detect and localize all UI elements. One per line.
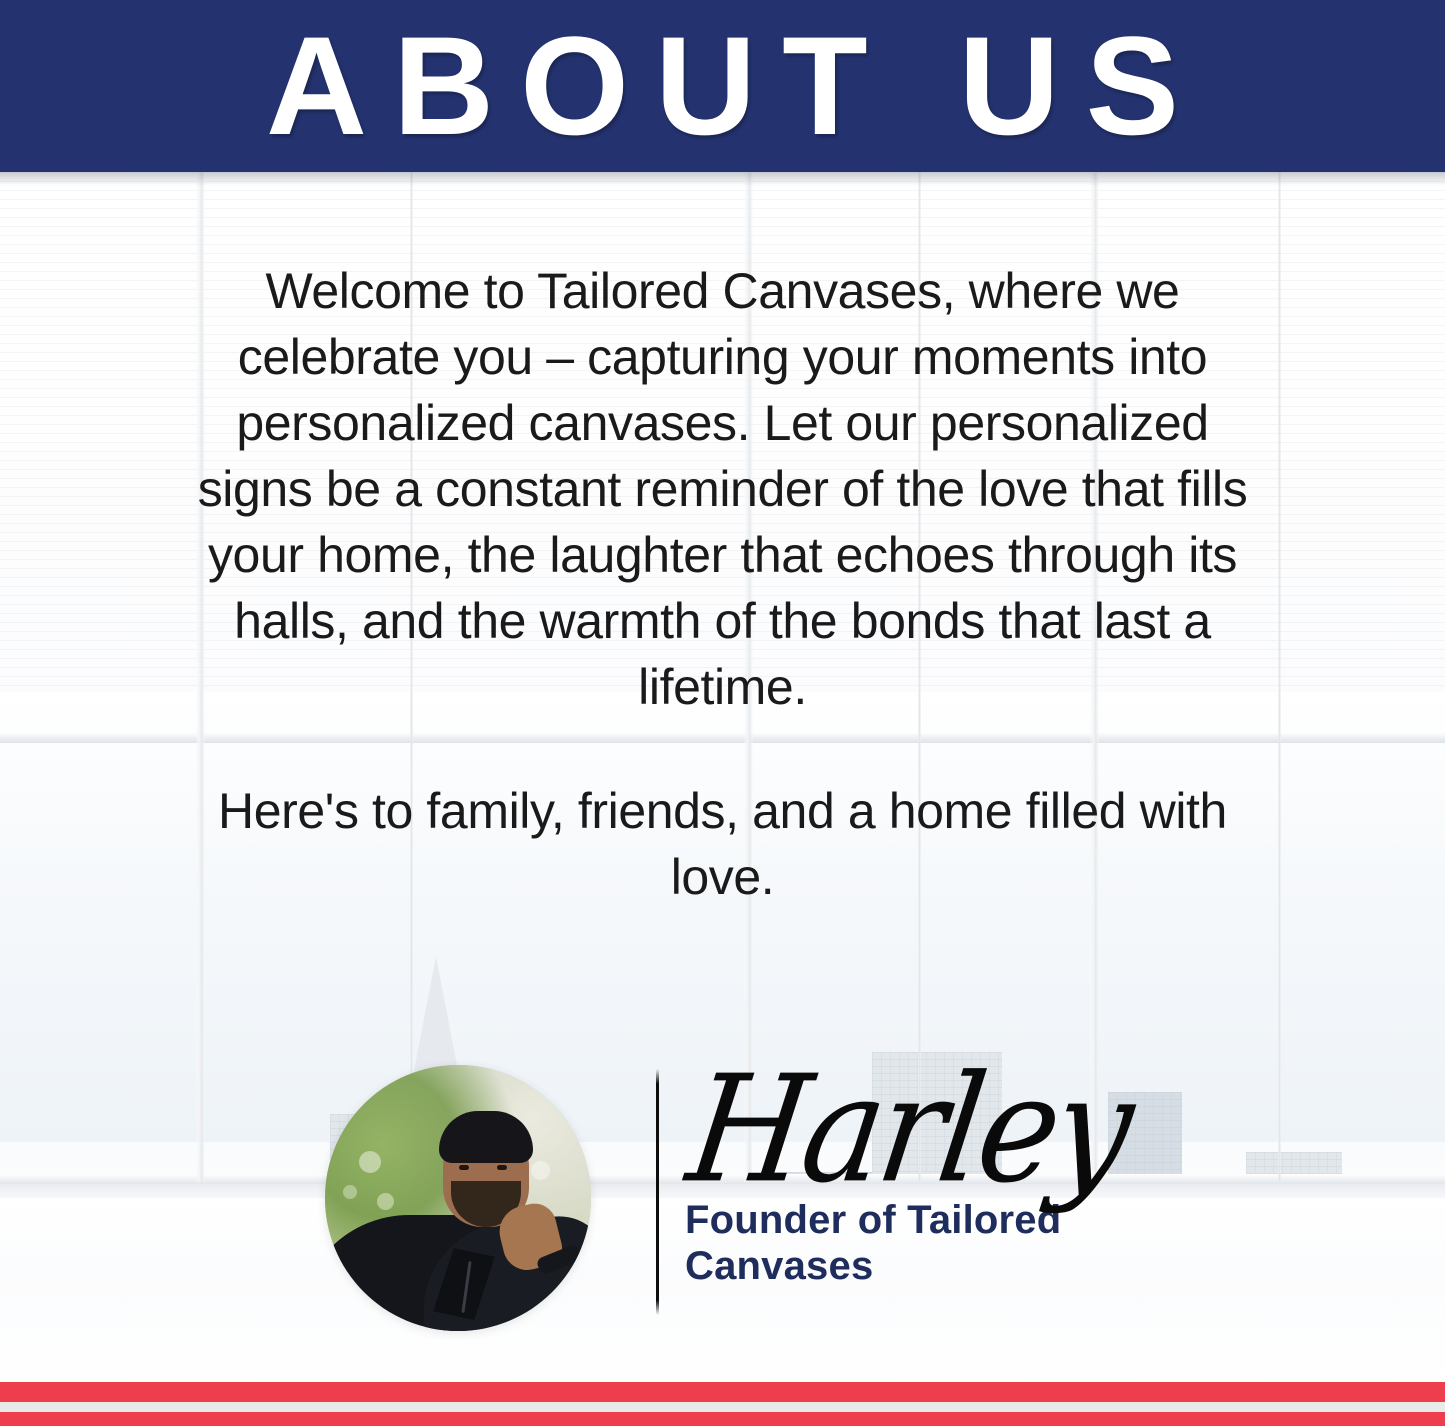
footer-stripe-gap xyxy=(0,1402,1445,1412)
page-title: ABOUT US xyxy=(240,11,1205,161)
about-paragraph-2: Here's to family, friends, and a home fi… xyxy=(193,778,1253,910)
about-us-page: ABOUT US Welcome to Tailored Canvases, w… xyxy=(0,0,1445,1426)
footer-stripe-upper xyxy=(0,1382,1445,1402)
about-us-copy: Welcome to Tailored Canvases, where we c… xyxy=(193,258,1253,910)
founder-signature: Harley xyxy=(679,1046,1186,1214)
vertical-divider xyxy=(656,1069,659,1315)
founder-role-line-2: Canvases xyxy=(685,1244,873,1288)
avatar xyxy=(325,1065,591,1331)
about-paragraph-1: Welcome to Tailored Canvases, where we c… xyxy=(193,258,1253,720)
founder-signature-block: Harley Founder of Tailored Canvases xyxy=(325,1055,1165,1325)
window-mullion xyxy=(1278,172,1281,1182)
paragraph-spacer xyxy=(193,720,1253,778)
signature-text-group: Harley Founder of Tailored Canvases xyxy=(685,1055,1165,1289)
banner-drop-shadow xyxy=(0,172,1445,186)
footer-stripe-lower xyxy=(0,1412,1445,1426)
about-us-banner: ABOUT US xyxy=(0,0,1445,172)
